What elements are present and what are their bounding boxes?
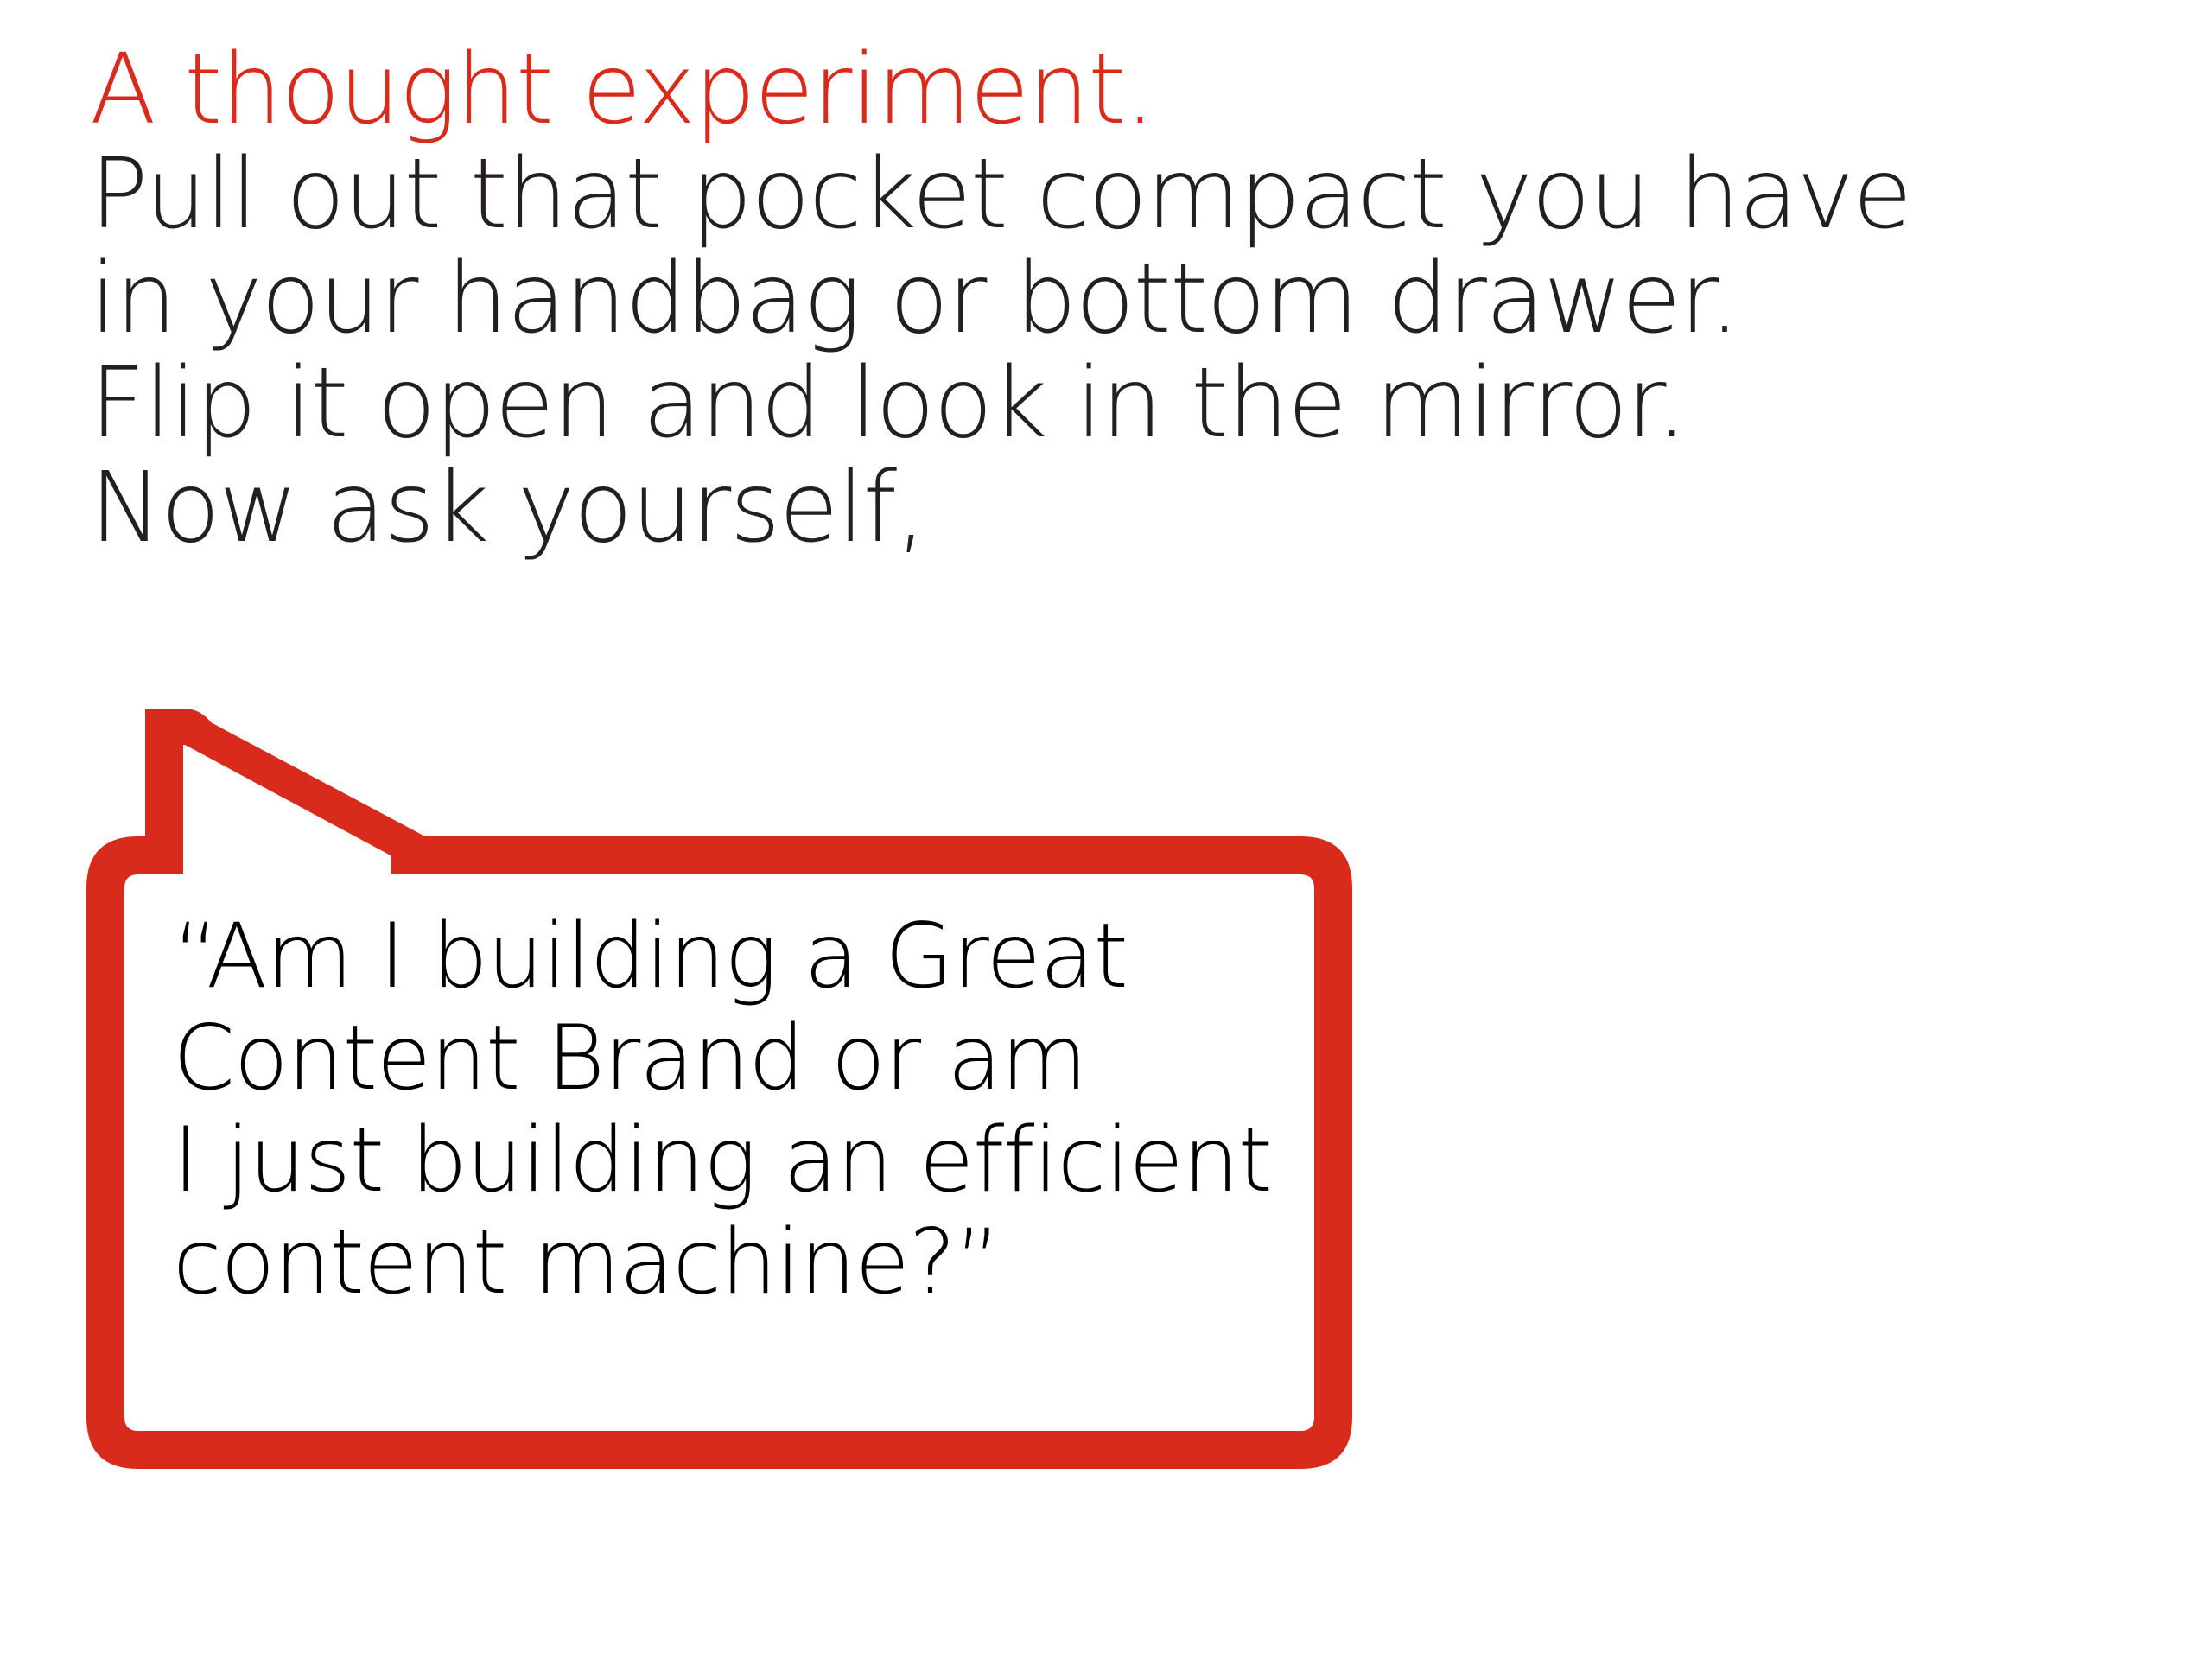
speech-bubble: “Am I building a Great Content Brand or … [0, 683, 1452, 1512]
headline-block: A thought experiment. Pull out that pock… [90, 38, 2181, 561]
quote-line-2: Content Brand or am [173, 1007, 1434, 1109]
quote-line-1: “Am I building a Great [173, 906, 1434, 1007]
headline-body-line-3: Flip it open and look in the mirror. [90, 352, 2181, 456]
headline-accent-line: A thought experiment. [90, 38, 2181, 143]
quote-line-4: content machine?” [173, 1211, 1434, 1313]
headline-body-line-2: in your handbag or bottom drawer. [90, 247, 2181, 352]
slide-canvas: A thought experiment. Pull out that pock… [0, 0, 2212, 1659]
headline-body-line-4: Now ask yourself, [90, 456, 2181, 561]
quote-line-3: I just building an efficient [173, 1109, 1434, 1211]
headline-body-line-1: Pull out that pocket compact you have [90, 143, 2181, 247]
speech-bubble-text: “Am I building a Great Content Brand or … [173, 906, 1434, 1313]
